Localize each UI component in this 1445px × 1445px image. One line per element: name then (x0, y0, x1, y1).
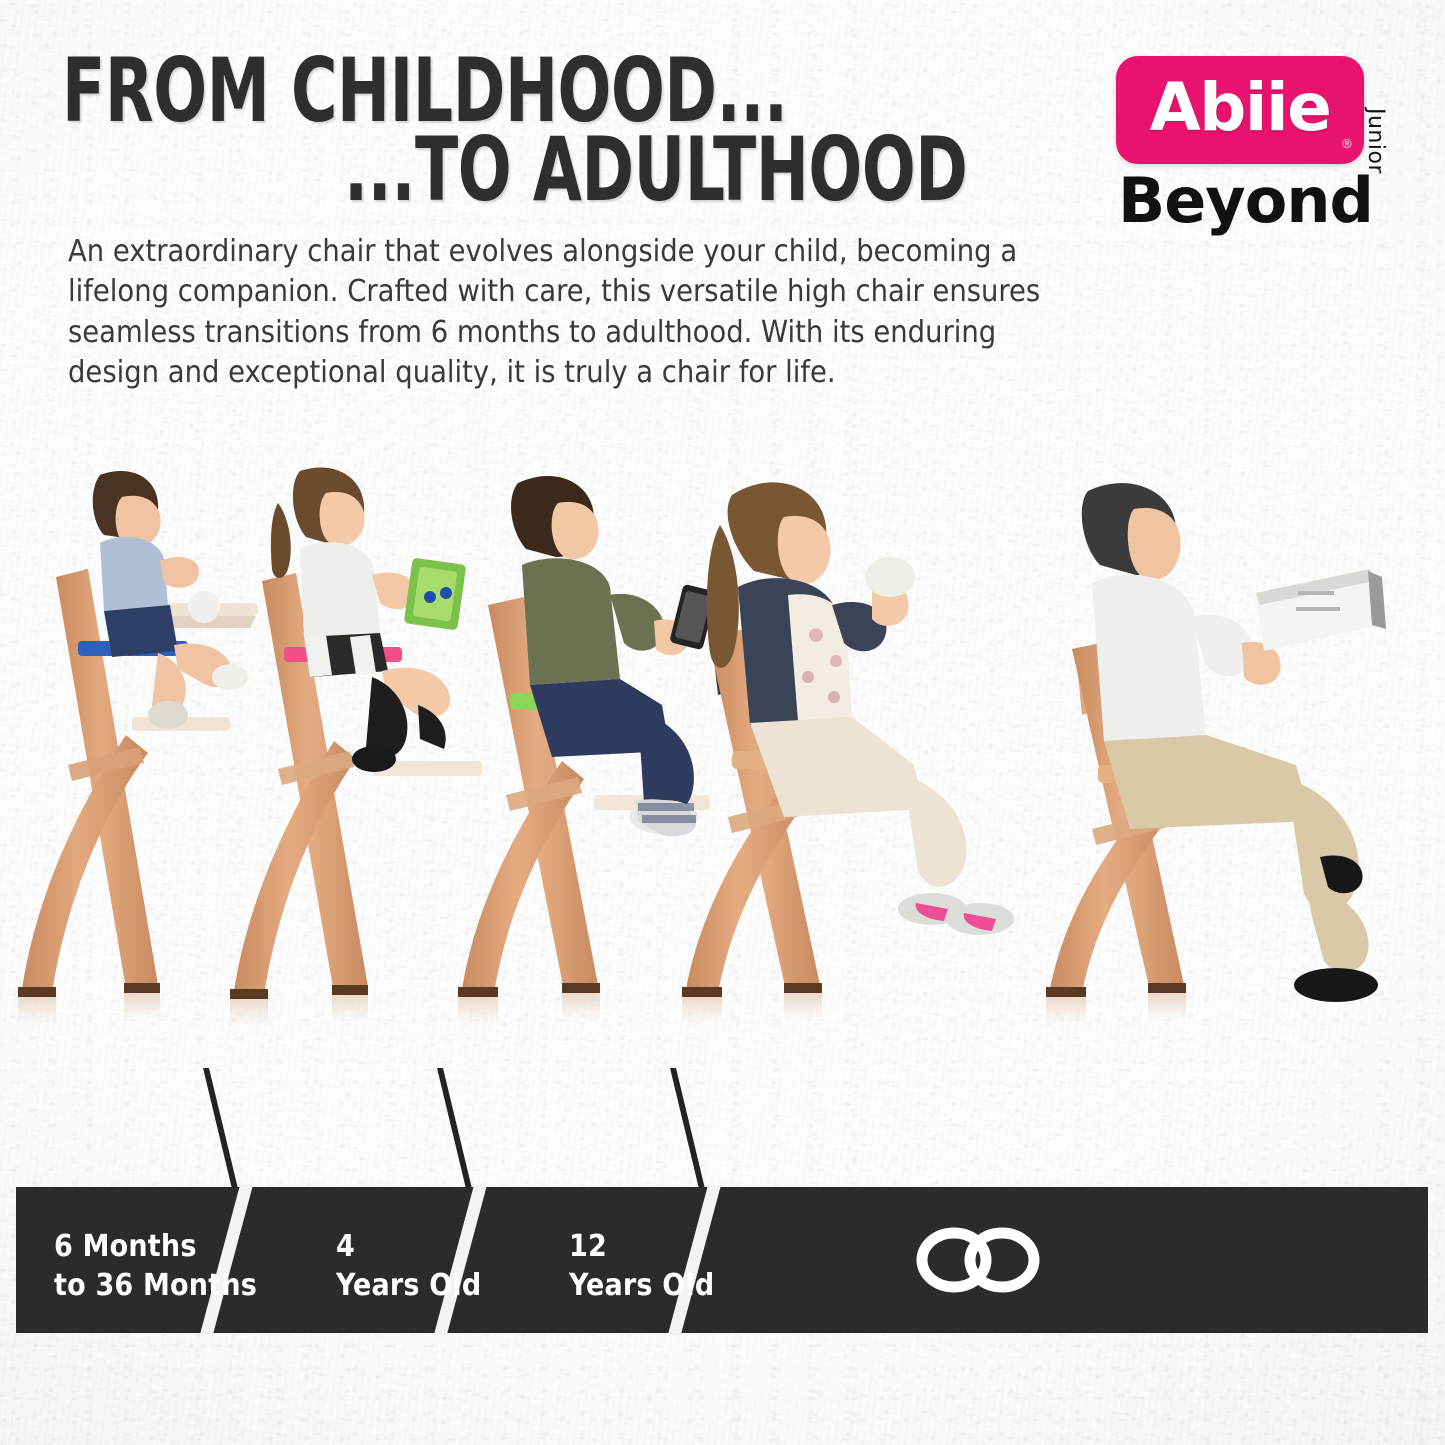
chair-stage-adult (1020, 465, 1440, 1055)
timeline-label-3: 12 Years Old (569, 1227, 714, 1305)
chair-foot (682, 987, 722, 997)
chair-foot (1046, 987, 1086, 997)
sock (1294, 968, 1378, 1002)
brand-name: Abiie (1150, 75, 1331, 141)
timeline-label-1: 6 Months to 36 Months (54, 1227, 257, 1305)
trousers (1104, 735, 1312, 829)
timeline-label-2: 4 Years Old (336, 1227, 481, 1305)
registered-trademark-icon: ® (1341, 137, 1353, 151)
description-text: An extraordinary chair that evolves alon… (68, 232, 1053, 393)
shirt (1092, 575, 1206, 741)
shirt (522, 558, 620, 685)
product-name: Beyond (1118, 170, 1373, 232)
headline: FROM CHILDHOOD... ...TO ADULTHOOD (62, 52, 962, 209)
description-block: An extraordinary chair that evolves alon… (68, 232, 1053, 393)
brand-logo-pill: Abiie ® (1116, 56, 1364, 164)
chair-foot (230, 989, 268, 999)
product-line: Beyond Junior (1116, 170, 1378, 246)
chair-foot (18, 987, 56, 997)
brand-logo: Abiie ® Beyond Junior (1116, 56, 1378, 246)
chair-stage-teen-adult (676, 465, 1016, 1055)
chair-lineup (0, 455, 1445, 1055)
product-infographic: FROM CHILDHOOD... ...TO ADULTHOOD An ext… (0, 0, 1445, 1445)
chair-foot (458, 987, 498, 997)
headline-line-2: ...TO ADULTHOOD (344, 131, 838, 208)
infinity-icon (912, 1221, 1044, 1304)
mug (865, 557, 915, 597)
age-timeline-bar: 6 Months to 36 Months 4 Years Old 12 Yea… (16, 1187, 1428, 1333)
product-tier: Junior (1363, 108, 1388, 174)
adult-figure-man (1082, 483, 1386, 1002)
